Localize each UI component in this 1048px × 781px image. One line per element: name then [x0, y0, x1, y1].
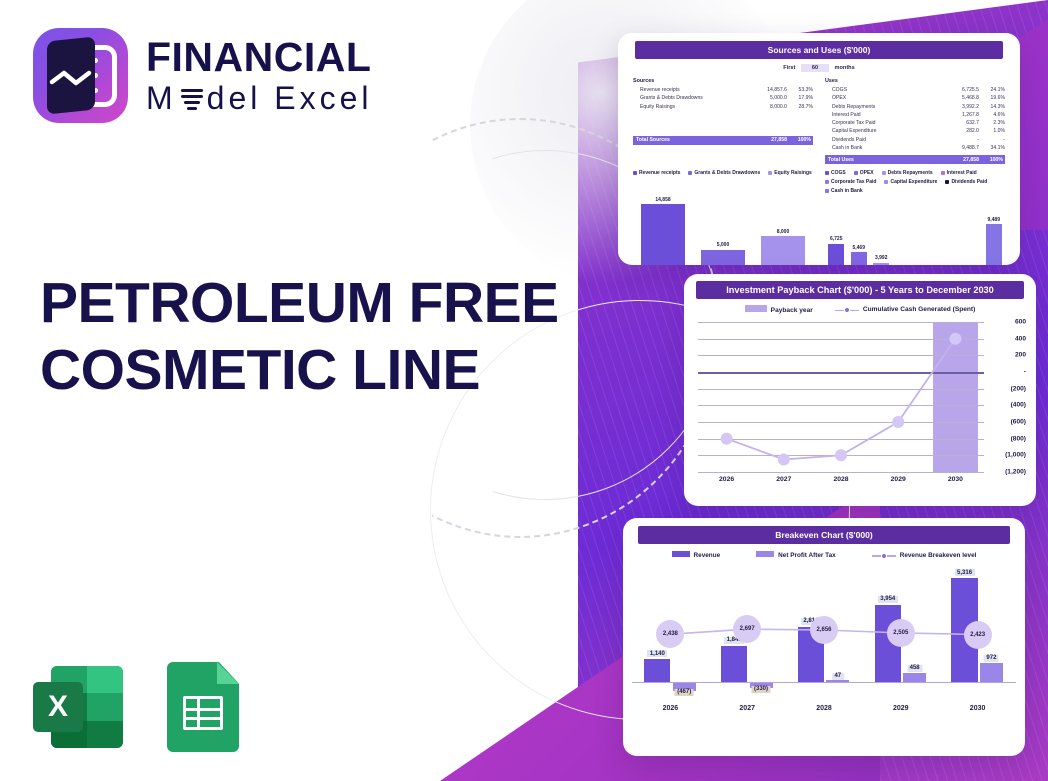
legend-label: Debts Repayments: [888, 170, 933, 176]
uses-bar: 1,268: [893, 199, 916, 265]
financial-model-excel-logo-icon: [33, 28, 128, 123]
y-tick-label: 400: [1015, 335, 1026, 342]
breakeven-card[interactable]: Breakeven Chart ($'000) Revenue Net Prof…: [623, 518, 1025, 756]
uses-bar: 6,725: [825, 199, 848, 265]
row-value: 5,468.8: [945, 94, 979, 102]
x-tick-label: 2028: [812, 476, 869, 483]
uses-bar: 9,489: [983, 199, 1006, 265]
y-tick-label: -: [1024, 369, 1026, 376]
breakeven-level-bubble: 2,438: [656, 620, 684, 648]
uses-legend-item: Capital Expenditure: [884, 179, 937, 185]
row-pct: -: [979, 136, 1005, 144]
uses-legend-item: OPEX: [854, 170, 874, 176]
payback-y-axis-labels: 600400200-(200)(400)(600)(800)(1,000)(1,…: [986, 322, 1028, 472]
payback-plot: 600400200-(200)(400)(600)(800)(1,000)(1,…: [692, 322, 1028, 472]
uses-table-row: COGS6,725.524.1%: [825, 86, 1005, 94]
breakeven-level-bubble: 2,423: [964, 621, 992, 649]
x-tick-label: 2030: [927, 476, 984, 483]
breakeven-level-bubble: 2,505: [887, 619, 915, 647]
sources-bar: 8,000: [753, 181, 813, 265]
uses-table-row: Corporate Tax Paid632.72.3%: [825, 119, 1005, 127]
legend-label: Dividends Paid: [951, 179, 987, 185]
microsoft-excel-icon: X: [33, 662, 123, 752]
row-value: 1,267.8: [945, 111, 979, 119]
x-tick-label: 2026: [632, 705, 709, 712]
bar: [873, 263, 889, 265]
row-value: 5,000.0: [753, 94, 787, 102]
brand-logo: FINANCIAL M del Excel: [33, 28, 373, 123]
legend-label: Revenue receipts: [639, 170, 680, 176]
y-tick-label: 600: [1015, 319, 1026, 326]
uses-chart-legend: COGSOPEXDebts RepaymentsInterest PaidCor…: [825, 170, 1005, 194]
row-value: 6,725.5: [945, 86, 979, 94]
payback-x-axis-labels: 20262027202820292030: [698, 476, 984, 483]
y-tick-label: (400): [1011, 402, 1026, 409]
row-label: Dividends Paid: [825, 136, 945, 144]
row-pct: 24.1%: [979, 86, 1005, 94]
y-tick-label: (800): [1011, 435, 1026, 442]
sources-legend-item: Revenue receipts: [633, 170, 680, 176]
row-label: Debts Repayments: [825, 103, 945, 111]
row-label: Equity Raisings: [633, 103, 753, 111]
uses-total-label: Total Uses: [825, 157, 945, 163]
uses-table-row: Capital Expenditure282.01.0%: [825, 127, 1005, 135]
gridline: [698, 472, 984, 473]
row-pct: 34.1%: [979, 144, 1005, 152]
uses-bar: 5,469: [848, 199, 871, 265]
legend-revenue: Revenue: [672, 551, 721, 559]
x-tick-label: 2029: [862, 705, 939, 712]
uses-bar: 0: [960, 199, 983, 265]
period-months-input[interactable]: 60: [801, 64, 829, 72]
poster-canvas: FINANCIAL M del Excel PETROLEUM FREE COS…: [0, 0, 1048, 781]
bar: [986, 224, 1002, 265]
wave-icon: [49, 68, 93, 88]
excel-x-glyph: X: [33, 682, 83, 732]
y-tick-label: 200: [1015, 352, 1026, 359]
sources-bar: 14,858: [633, 181, 693, 265]
brand-text: FINANCIAL M del Excel: [146, 37, 373, 114]
legend-label: Corporate Tax Paid: [831, 179, 876, 185]
bar: [761, 236, 804, 265]
y-tick-label: (1,200): [1005, 469, 1026, 476]
legend-breakeven-level: Revenue Breakeven level: [872, 552, 977, 559]
brand-title: FINANCIAL: [146, 37, 373, 78]
bar-value-label: 6,725: [830, 236, 843, 242]
row-pct: 2.3%: [979, 119, 1005, 127]
sources-bar: 5,000: [693, 181, 753, 265]
uses-legend-item: Cash in Bank: [825, 188, 863, 194]
cumulative-line-swatch: [835, 308, 859, 312]
period-suffix-label: months: [835, 65, 855, 71]
sources-and-uses-card[interactable]: Sources and Uses ($'000) First 60 months…: [618, 33, 1020, 265]
row-pct: 53.3%: [787, 86, 813, 94]
bar-value-label: 8,000: [777, 229, 790, 235]
legend-label: OPEX: [860, 170, 874, 176]
bar: [851, 252, 867, 265]
row-value: 14,857.6: [753, 86, 787, 94]
uses-legend-item: Interest Paid: [941, 170, 977, 176]
uses-total-row: Total Uses 27,858 100%: [825, 155, 1005, 164]
sources-total-value: 27,858: [753, 137, 787, 143]
sources-total-row: Total Sources 27,858 100%: [633, 136, 813, 145]
breakeven-level-bubble: 2,656: [810, 616, 838, 644]
payback-legend: Payback year Cumulative Cash Generated (…: [692, 305, 1028, 314]
bar-value-label: 5,000: [717, 242, 730, 248]
sources-total-label: Total Sources: [633, 137, 753, 143]
row-label: Cash in Bank: [825, 144, 945, 152]
row-label: Interest Paid: [825, 111, 945, 119]
breakeven-line-swatch: [872, 554, 896, 558]
sources-table-row: Equity Raisings8,000.028.7%: [633, 103, 813, 111]
legend-label: Interest Paid: [947, 170, 977, 176]
row-value: 9,488.7: [945, 144, 979, 152]
row-label: COGS: [825, 86, 945, 94]
legend-label: COGS: [831, 170, 846, 176]
uses-bar: 633: [915, 199, 938, 265]
stylized-o-icon: [179, 85, 205, 111]
payback-band-swatch: [745, 305, 767, 312]
legend-net-profit: Net Profit After Tax: [756, 551, 836, 559]
brand-subtitle: M del Excel: [146, 82, 373, 114]
uses-total-pct: 100%: [979, 157, 1005, 163]
page-title: PETROLEUM FREE COSMETIC LINE: [40, 270, 560, 403]
row-pct: 17.9%: [787, 94, 813, 102]
bar: [641, 204, 684, 265]
app-icons-row: X: [33, 662, 239, 752]
investment-payback-card[interactable]: Investment Payback Chart ($'000) - 5 Yea…: [684, 274, 1036, 506]
row-pct: 4.6%: [979, 111, 1005, 119]
legend-label: Grants & Debts Drawdowns: [694, 170, 760, 176]
uses-bar: 282: [938, 199, 961, 265]
bar: [828, 244, 844, 265]
bar-value-label: 9,489: [987, 217, 1000, 223]
row-label: Capital Expenditure: [825, 127, 945, 135]
legend-label: Equity Raisings: [774, 170, 812, 176]
sources-table-row: Grants & Debts Drawdowns5,000.017.9%: [633, 94, 813, 102]
sources-table-row: Revenue receipts14,857.653.3%: [633, 86, 813, 94]
row-value: 282.0: [945, 127, 979, 135]
net-profit-swatch: [756, 551, 774, 557]
row-pct: 19.6%: [979, 94, 1005, 102]
legend-label: Capital Expenditure: [890, 179, 937, 185]
bar-value-label: 3,992: [875, 255, 888, 261]
brand-subtitle-left: M: [146, 82, 177, 114]
sources-legend-item: Grants & Debts Drawdowns: [688, 170, 760, 176]
x-tick-label: 2027: [709, 705, 786, 712]
x-tick-label: 2029: [870, 476, 927, 483]
uses-legend-item: Debts Repayments: [882, 170, 933, 176]
row-label: Revenue receipts: [633, 86, 753, 94]
uses-table-row: Debts Repayments3,992.214.3%: [825, 103, 1005, 111]
x-tick-label: 2026: [698, 476, 755, 483]
revenue-swatch: [672, 551, 690, 557]
uses-bar-chart: 6,7255,4693,9921,26863328209,489: [825, 199, 1005, 265]
row-label: Corporate Tax Paid: [825, 119, 945, 127]
legend-label: Cash in Bank: [831, 188, 863, 194]
payback-title: Investment Payback Chart ($'000) - 5 Yea…: [696, 281, 1024, 299]
uses-table-row: Interest Paid1,267.84.6%: [825, 111, 1005, 119]
bar-value-label: 14,858: [655, 197, 670, 203]
sources-column: Sources Revenue receipts14,857.653.3%Gra…: [633, 78, 813, 164]
period-input-row[interactable]: First 60 months: [627, 64, 1011, 72]
y-tick-label: (200): [1011, 385, 1026, 392]
sources-chart-legend: Revenue receiptsGrants & Debts Drawdowns…: [633, 170, 813, 176]
sources-header: Sources: [633, 78, 813, 84]
x-tick-label: 2030: [939, 705, 1016, 712]
row-value: 3,992.2: [945, 103, 979, 111]
uses-bar: 3,992: [870, 199, 893, 265]
google-sheets-icon: [167, 662, 239, 752]
row-pct: 1.0%: [979, 127, 1005, 135]
uses-legend-item: Corporate Tax Paid: [825, 179, 876, 185]
breakeven-legend: Revenue Net Profit After Tax Revenue Bre…: [632, 551, 1016, 559]
row-value: 8,000.0: [753, 103, 787, 111]
y-tick-label: (600): [1011, 419, 1026, 426]
y-tick-label: (1,000): [1005, 452, 1026, 459]
bar-value-label: 5,469: [852, 245, 865, 251]
legend-cumulative-cash: Cumulative Cash Generated (Spent): [835, 306, 975, 313]
x-tick-label: 2028: [786, 705, 863, 712]
breakeven-level-bubble: 2,697: [733, 615, 761, 643]
row-pct: 14.3%: [979, 103, 1005, 111]
breakeven-title: Breakeven Chart ($'000): [638, 526, 1010, 544]
uses-legend-item: Dividends Paid: [945, 179, 987, 185]
x-tick-label: 2027: [755, 476, 812, 483]
row-value: 632.7: [945, 119, 979, 127]
uses-legend-item: COGS: [825, 170, 846, 176]
uses-table-row: OPEX5,468.819.6%: [825, 94, 1005, 102]
uses-table-row: Dividends Paid--: [825, 136, 1005, 144]
breakeven-plot: 1,140(467)1,848(330)2,814473,9544585,316…: [632, 569, 1016, 699]
uses-header: Uses: [825, 78, 1005, 84]
payback-line-series: [698, 322, 984, 472]
legend-payback-year: Payback year: [745, 305, 813, 314]
breakeven-x-axis-labels: 20262027202820292030: [632, 705, 1016, 712]
row-pct: 28.7%: [787, 103, 813, 111]
period-prefix-label: First: [783, 65, 795, 71]
row-label: OPEX: [825, 94, 945, 102]
uses-column: Uses COGS6,725.524.1%OPEX5,468.819.6%Deb…: [825, 78, 1005, 164]
sources-uses-title: Sources and Uses ($'000): [635, 41, 1003, 59]
uses-table-row: Cash in Bank9,488.734.1%: [825, 144, 1005, 152]
row-value: -: [945, 136, 979, 144]
bar: [701, 250, 744, 265]
sources-bar-chart: 14,8585,0008,000: [633, 181, 813, 265]
row-label: Grants & Debts Drawdowns: [633, 94, 753, 102]
sources-total-pct: 100%: [787, 137, 813, 143]
brand-subtitle-right: del Excel: [207, 82, 373, 114]
sources-legend-item: Equity Raisings: [768, 170, 812, 176]
uses-total-value: 27,858: [945, 157, 979, 163]
